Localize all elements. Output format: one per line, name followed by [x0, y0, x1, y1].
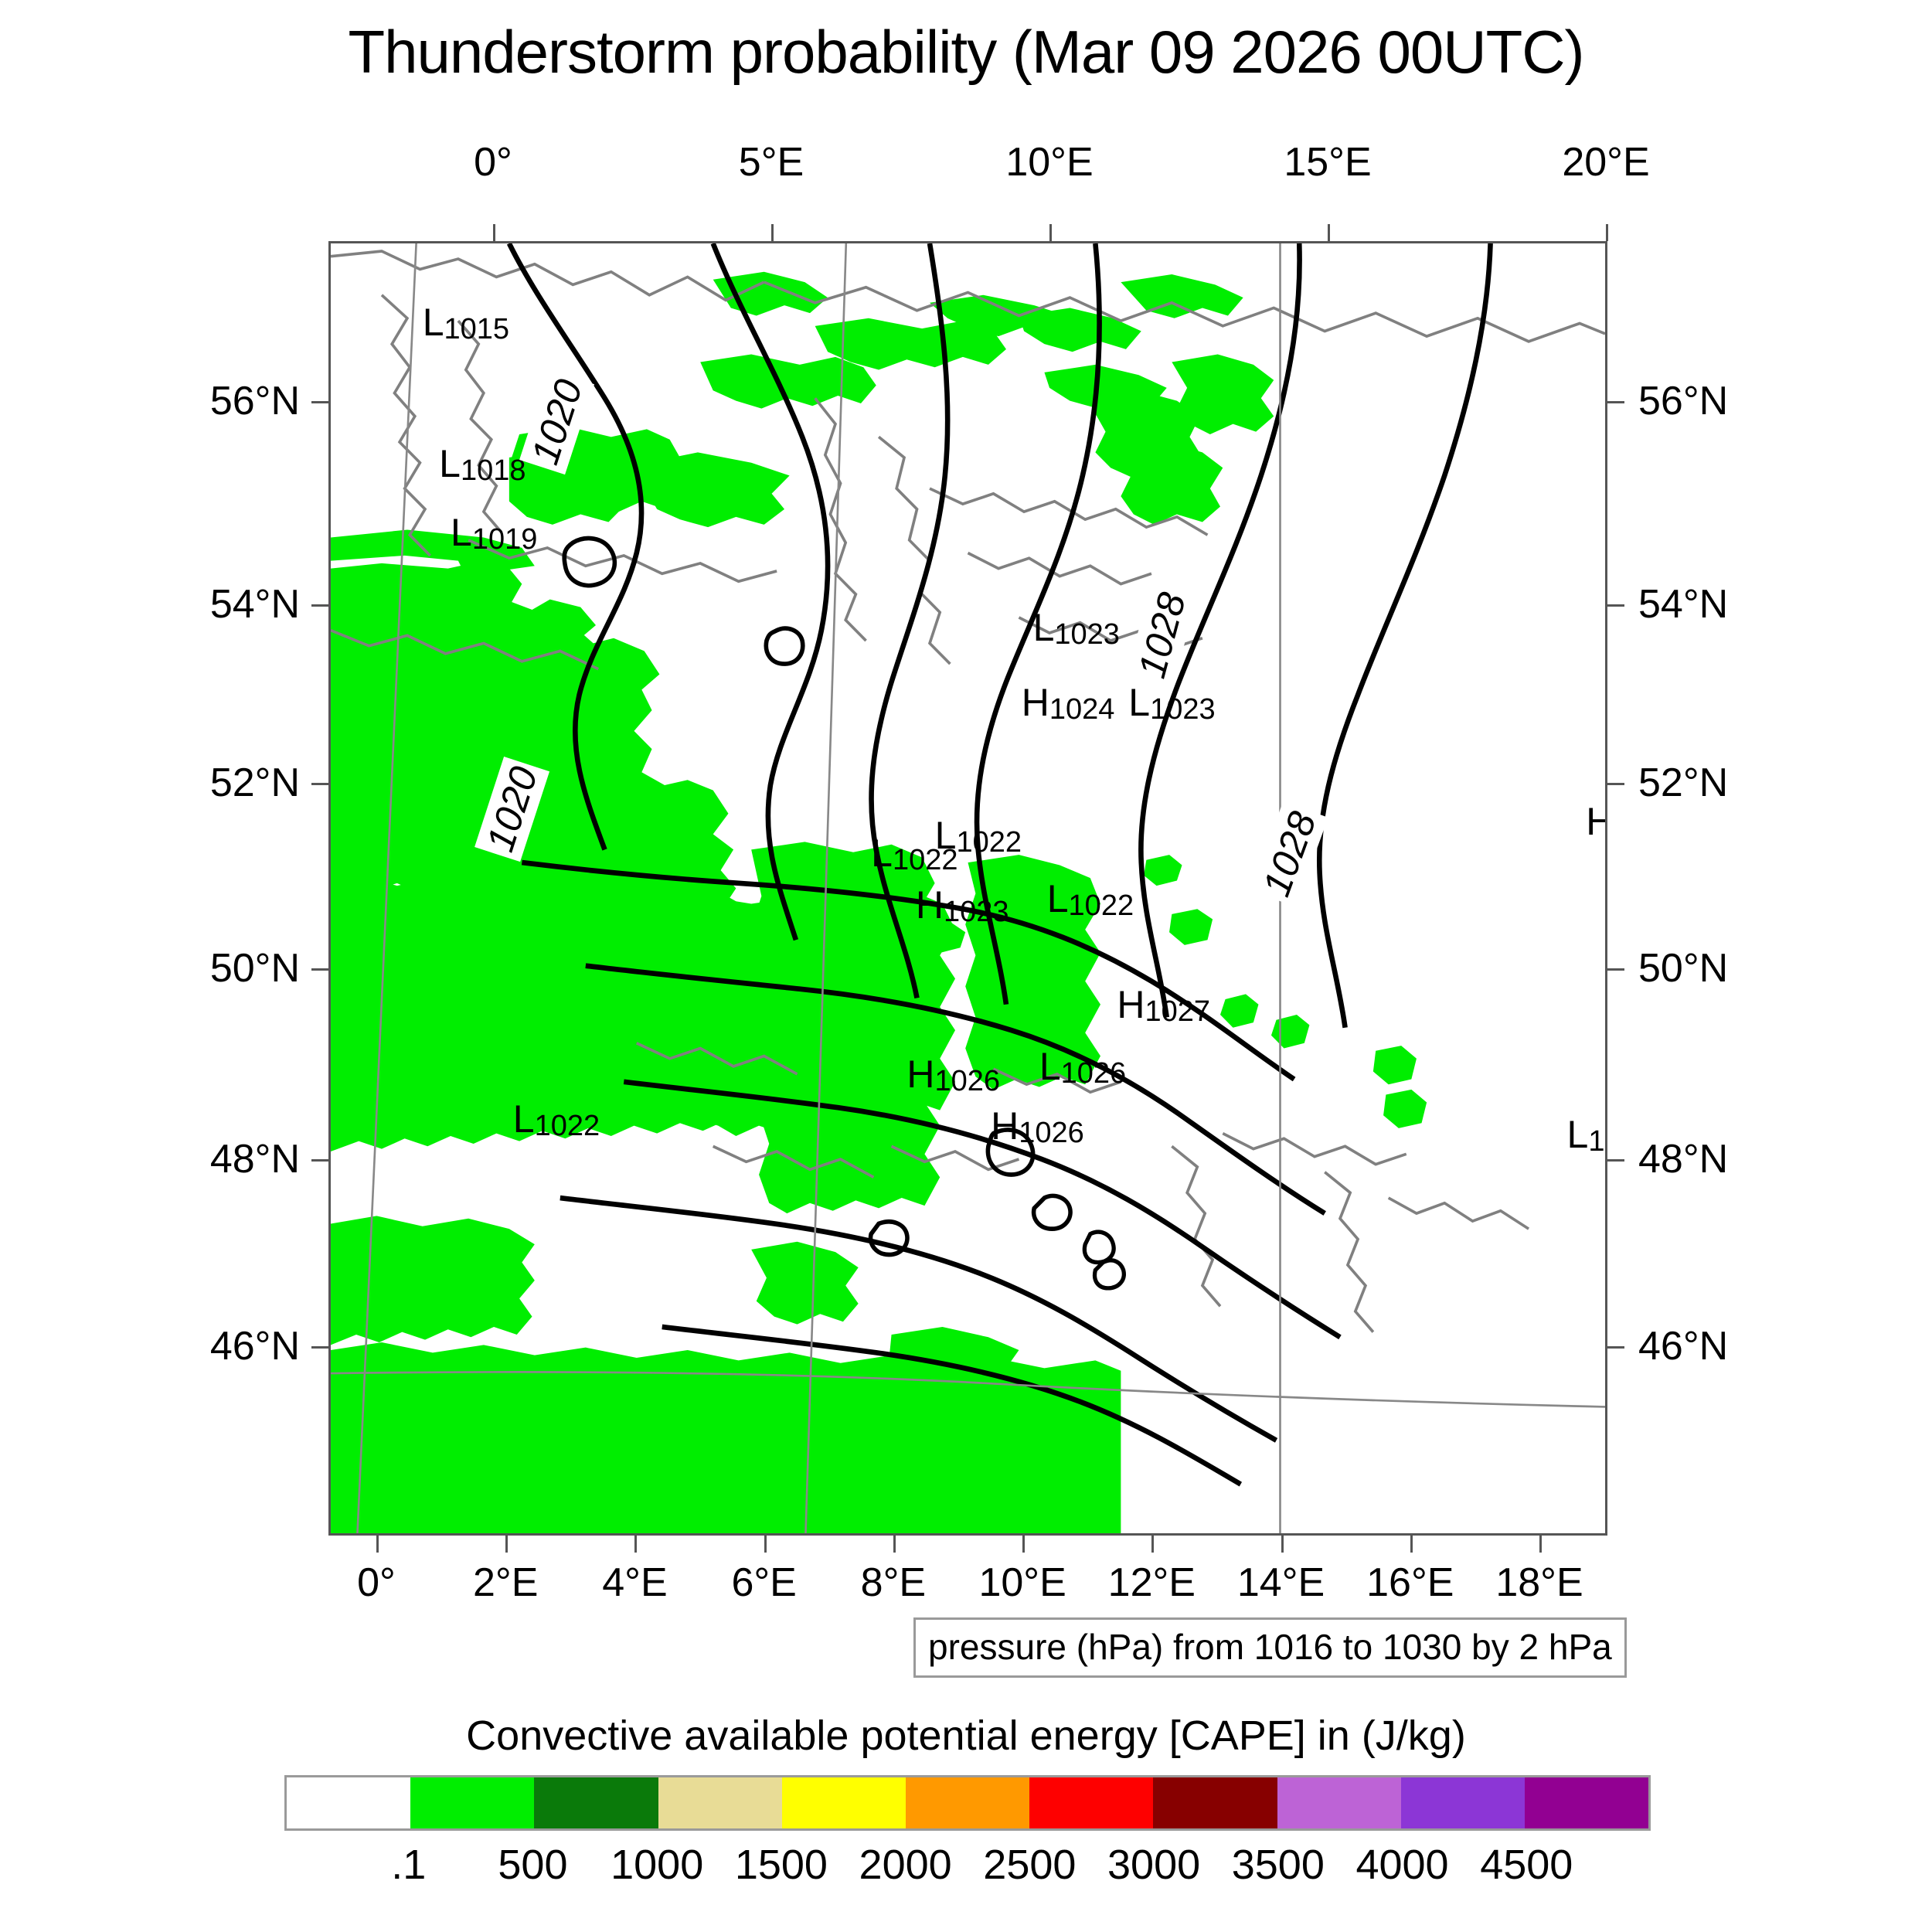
colorbar-tick-label: 4500	[1480, 1841, 1573, 1889]
pressure-system-low-label: L1019	[451, 513, 537, 554]
pressure-system-type: H	[1117, 983, 1145, 1026]
bottom-axis-tick	[1022, 1536, 1025, 1553]
bottom-axis-tick-label: 14°E	[1237, 1560, 1325, 1606]
left-axis-tick	[311, 1346, 328, 1349]
pressure-system-high-label: H1	[1586, 802, 1607, 843]
top-axis-tick	[1049, 224, 1052, 241]
right-axis-tick	[1607, 1159, 1624, 1162]
colorbar-tick-label: 3000	[1107, 1841, 1200, 1889]
pressure-system-value: 1023	[944, 896, 1009, 928]
bottom-axis-tick	[1410, 1536, 1413, 1553]
pressure-system-value: 1022	[1069, 889, 1134, 922]
left-axis-tick	[311, 604, 328, 607]
colorbar-segment[interactable]	[287, 1777, 410, 1828]
bottom-axis-tick	[376, 1536, 379, 1553]
pressure-system-type: L	[451, 511, 472, 554]
left-axis-tick	[311, 401, 328, 403]
pressure-system-type: L	[1033, 606, 1055, 649]
pressure-system-type: L	[935, 814, 957, 857]
bottom-axis-tick-label: 12°E	[1108, 1560, 1196, 1606]
right-axis-tick-label: 46°N	[1638, 1323, 1728, 1369]
left-axis-tick-label: 54°N	[210, 581, 300, 628]
bottom-axis-tick	[505, 1536, 508, 1553]
right-axis-tick-label: 48°N	[1638, 1136, 1728, 1182]
left-axis-tick	[311, 783, 328, 785]
pressure-system-value: 1018	[461, 454, 526, 487]
pressure-system-value: 1023	[1150, 693, 1216, 726]
pressure-system-high-label: H1026	[991, 1107, 1084, 1148]
right-axis-tick-label: 52°N	[1638, 760, 1728, 806]
pressure-system-low-label: L1023	[1033, 608, 1120, 649]
colorbar-tick-label: 1500	[735, 1841, 828, 1889]
top-axis-tick-label: 0°	[474, 139, 512, 185]
right-axis-tick	[1607, 401, 1624, 403]
bottom-axis-tick	[634, 1536, 637, 1553]
pressure-system-value: 1026	[1019, 1117, 1084, 1149]
left-axis-tick	[311, 1159, 328, 1162]
left-axis-tick-label: 56°N	[210, 378, 300, 424]
top-axis-tick-label: 20°E	[1562, 139, 1649, 185]
pressure-system-type: L	[423, 301, 444, 344]
pressure-system-type: L	[1047, 877, 1069, 920]
colorbar-tick-label: 1000	[611, 1841, 703, 1889]
cape-colorbar[interactable]	[284, 1775, 1651, 1831]
pressure-system-low-label: L1018	[439, 444, 526, 485]
colorbar-segment[interactable]	[782, 1777, 906, 1828]
bottom-axis-tick	[893, 1536, 896, 1553]
right-axis-tick-label: 50°N	[1638, 945, 1728, 992]
top-axis-tick	[771, 224, 774, 241]
pressure-system-low-label: L1022	[1047, 879, 1134, 920]
colorbar-tick-label: .1	[391, 1841, 426, 1889]
colorbar-segment[interactable]	[410, 1777, 534, 1828]
bottom-axis-tick-label: 8°E	[861, 1560, 926, 1606]
weather-map[interactable]: L1015L1018L1019L1023H1024L1023L1022L1022…	[328, 241, 1607, 1536]
bottom-axis-tick-label: 10°E	[978, 1560, 1066, 1606]
bottom-axis-tick-label: 4°E	[602, 1560, 667, 1606]
right-axis-tick-label: 54°N	[1638, 581, 1728, 628]
colorbar-tick-label: 4000	[1355, 1841, 1448, 1889]
colorbar-segment[interactable]	[1029, 1777, 1153, 1828]
bottom-axis-tick	[1151, 1536, 1154, 1553]
pressure-system-low-label: L1022	[513, 1100, 600, 1141]
bottom-axis-tick-label: 6°E	[731, 1560, 796, 1606]
colorbar-segment[interactable]	[1525, 1777, 1648, 1828]
pressure-system-high-label: H1026	[906, 1055, 1000, 1096]
page-title: Thunderstorm probability (Mar 09 2026 00…	[0, 17, 1932, 87]
top-axis-tick-label: 10°E	[1005, 139, 1093, 185]
pressure-system-low-label: L1015	[423, 303, 509, 344]
pressure-system-type: H	[906, 1053, 934, 1096]
pressure-system-high-label: H1027	[1117, 985, 1210, 1026]
pressure-system-type: L	[1128, 681, 1150, 724]
pressure-system-low-label: L1025	[1567, 1115, 1607, 1156]
pressure-system-value: 1019	[472, 523, 538, 556]
colorbar-tick-label: 500	[498, 1841, 567, 1889]
pressure-system-high-label: H1023	[916, 886, 1009, 927]
bottom-axis-tick-label: 0°	[357, 1560, 396, 1606]
left-axis-tick-label: 50°N	[210, 945, 300, 992]
bottom-axis-tick-label: 18°E	[1495, 1560, 1583, 1606]
top-axis-tick-label: 5°E	[739, 139, 804, 185]
pressure-system-value: 1025	[1588, 1125, 1607, 1158]
pressure-caption: pressure (hPa) from 1016 to 1030 by 2 hP…	[913, 1617, 1627, 1678]
pressure-system-type: L	[1039, 1045, 1061, 1088]
colorbar-tick-labels: .150010001500200025003000350040004500	[284, 1841, 1651, 1895]
pressure-system-type: L	[439, 442, 461, 485]
pressure-system-value: 1022	[535, 1110, 600, 1142]
bottom-axis-tick	[1539, 1536, 1542, 1553]
left-axis-tick	[311, 968, 328, 971]
pressure-system-value: 1023	[1054, 618, 1120, 651]
pressure-system-high-label: H1024	[1022, 683, 1115, 724]
pressure-system-low-label: L1026	[1039, 1047, 1126, 1088]
pressure-system-type: H	[991, 1104, 1019, 1148]
bottom-axis-tick-label: 2°E	[473, 1560, 538, 1606]
colorbar-segment[interactable]	[906, 1777, 1029, 1828]
colorbar-segment[interactable]	[658, 1777, 782, 1828]
right-axis-tick	[1607, 968, 1624, 971]
colorbar-tick-label: 2500	[983, 1841, 1076, 1889]
colorbar-tick-label: 2000	[859, 1841, 952, 1889]
right-axis-tick-label: 56°N	[1638, 378, 1728, 424]
pressure-system-type: L	[1567, 1113, 1589, 1156]
top-axis-tick-label: 15°E	[1284, 139, 1371, 185]
pressure-system-type: L	[513, 1097, 535, 1141]
left-axis-tick-label: 52°N	[210, 760, 300, 806]
left-axis-tick-label: 46°N	[210, 1323, 300, 1369]
colorbar-segment[interactable]	[1153, 1777, 1277, 1828]
pressure-system-value: 1026	[934, 1065, 1000, 1097]
pressure-system-value: 1024	[1049, 693, 1115, 726]
right-axis-tick	[1607, 1346, 1624, 1349]
right-axis-tick	[1607, 783, 1624, 785]
pressure-system-value: 1027	[1145, 995, 1211, 1028]
colorbar-segment[interactable]	[1401, 1777, 1525, 1828]
bottom-axis-tick	[764, 1536, 767, 1553]
top-axis-tick	[1606, 224, 1608, 241]
colorbar-title: Convective available potential energy [C…	[0, 1712, 1932, 1760]
colorbar-segment[interactable]	[1277, 1777, 1401, 1828]
pressure-system-type: H	[1022, 681, 1049, 724]
pressure-system-type: H	[1586, 800, 1607, 843]
right-axis-tick	[1607, 604, 1624, 607]
bottom-axis-tick-label: 16°E	[1366, 1560, 1454, 1606]
colorbar-tick-label: 3500	[1232, 1841, 1325, 1889]
pressure-system-value: 1026	[1061, 1057, 1127, 1090]
pressure-system-type: H	[916, 883, 944, 927]
pressure-system-low-label: L1022	[935, 816, 1022, 857]
pressure-system-value: 1015	[444, 313, 510, 345]
top-axis-tick	[493, 224, 495, 241]
colorbar-segment[interactable]	[534, 1777, 658, 1828]
pressure-system-type: L	[871, 832, 893, 875]
left-axis-tick-label: 48°N	[210, 1136, 300, 1182]
pressure-system-value: 1022	[956, 826, 1022, 859]
pressure-system-low-label: L1023	[1128, 683, 1215, 724]
top-axis-tick	[1328, 224, 1330, 241]
bottom-axis-tick	[1281, 1536, 1284, 1553]
